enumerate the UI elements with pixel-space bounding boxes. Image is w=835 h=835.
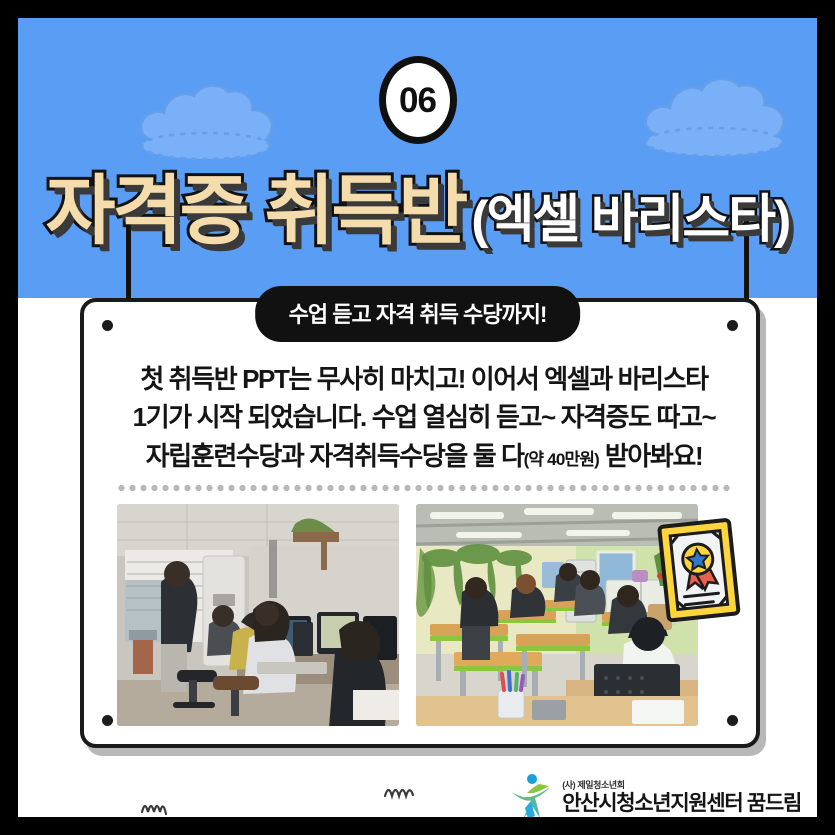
section-number-badge: 06: [379, 56, 457, 144]
screw-dot-icon: [727, 320, 738, 331]
status-badge: 수업 듣고 자격 취득 수당까지!: [255, 286, 581, 342]
computer-lab-photo: [117, 504, 399, 726]
brand-name-line: 안산시청소년지원센터 꿈드림: [562, 793, 801, 814]
title-main-text: 자격증 취득반: [46, 174, 466, 250]
certificate-icon: [652, 515, 748, 627]
brand-text: (사) 제일청소년회 안산시청소년지원센터 꿈드림: [562, 778, 801, 814]
brand-org-line: (사) 제일청소년회: [562, 778, 801, 791]
body-line-3-part-a: 자립훈련수당과 자격취득수당을 둘 다: [146, 441, 524, 471]
body-line-3-part-b: 받아봐요!: [599, 441, 702, 471]
dotted-divider: [116, 485, 732, 491]
body-copy: 첫 취득반 PPT는 무사히 마치고! 이어서 엑셀과 바리스타 1기가 시작 …: [110, 360, 738, 475]
body-line-2: 1기가 시작 되었습니다. 수업 열심히 듣고~ 자격증도 따고~: [110, 398, 738, 436]
squiggle-icon: [140, 798, 174, 816]
footer: (사) 제일청소년회 안산시청소년지원센터 꿈드림: [18, 748, 817, 817]
title-sub-text: (엑셀 바리스타): [471, 194, 789, 246]
star-person-logo-icon: [509, 772, 553, 817]
body-line-3: 자립훈련수당과 자격취득수당을 둘 다(약 40만원) 받아봐요!: [110, 437, 738, 475]
page-title: 자격증 취득반 (엑셀 바리스타): [18, 140, 817, 250]
info-card: 첫 취득반 PPT는 무사히 마치고! 이어서 엑셀과 바리스타 1기가 시작 …: [80, 298, 760, 748]
screw-dot-icon: [102, 320, 113, 331]
screw-dot-icon: [102, 715, 113, 726]
amount-note: (약 40만원): [524, 450, 599, 469]
section-number-text: 06: [399, 83, 436, 118]
squiggle-icon: [383, 784, 421, 802]
photo-strip: [117, 504, 737, 726]
promo-card-root: 06 자격증 취득반 (엑셀 바리스타) 첫 취득반 PPT는 무사히 마치고!…: [0, 0, 835, 835]
card-frame: 06 자격증 취득반 (엑셀 바리스타) 첫 취득반 PPT는 무사히 마치고!…: [18, 18, 817, 817]
body-line-1: 첫 취득반 PPT는 무사히 마치고! 이어서 엑셀과 바리스타: [110, 360, 738, 398]
brand-logo: (사) 제일청소년회 안산시청소년지원센터 꿈드림: [509, 772, 801, 817]
